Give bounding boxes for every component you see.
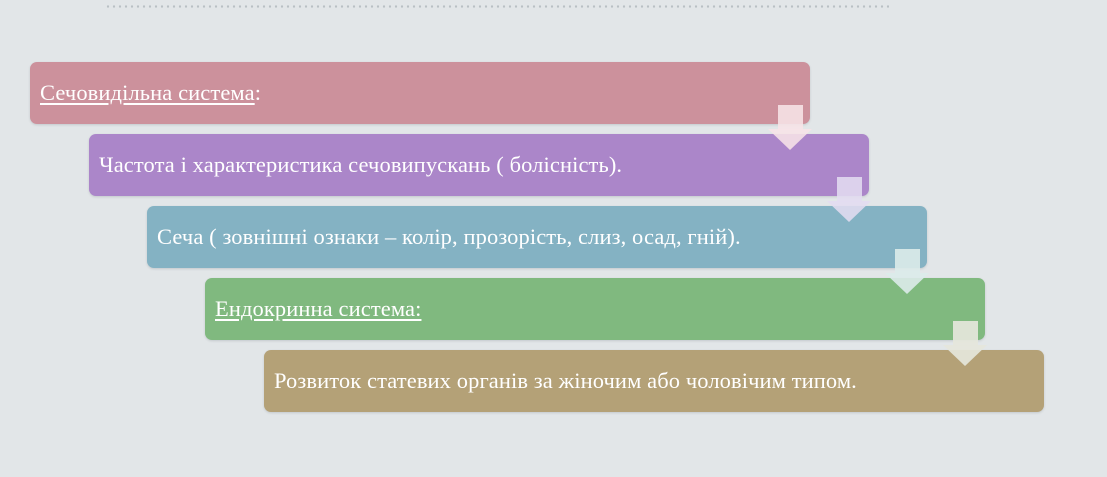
- arrow-stem: [895, 249, 920, 274]
- arrow-down-icon: [885, 249, 929, 294]
- arrow-stem: [837, 177, 862, 202]
- arrow-head: [827, 201, 871, 222]
- step-band-1[interactable]: Сечовидільна система :: [30, 62, 810, 124]
- arrow-down-icon: [768, 105, 812, 150]
- dotted-divider: [105, 5, 889, 8]
- arrow-head: [768, 129, 812, 150]
- arrow-down-icon: [943, 321, 987, 366]
- step-2-trailing-label: Частота і характеристика сечовипускань (…: [99, 153, 622, 177]
- step-4-underlined-label: Ендокринна система:: [215, 297, 421, 321]
- step-band-2[interactable]: Частота і характеристика сечовипускань (…: [89, 134, 869, 196]
- arrow-head: [885, 273, 929, 294]
- arrow-stem: [953, 321, 978, 346]
- step-1-trailing-label: :: [255, 81, 261, 105]
- step-3-trailing-label: Сеча ( зовнішні ознаки – колір, прозоріс…: [157, 225, 741, 249]
- step-5-trailing-label: Розвиток статевих органів за жіночим або…: [274, 369, 857, 393]
- arrow-head: [943, 345, 987, 366]
- step-band-5[interactable]: Розвиток статевих органів за жіночим або…: [264, 350, 1044, 412]
- slide-canvas: Сечовидільна система : Частота і характе…: [0, 0, 1107, 477]
- step-band-3[interactable]: Сеча ( зовнішні ознаки – колір, прозоріс…: [147, 206, 927, 268]
- step-1-underlined-label: Сечовидільна система: [40, 81, 255, 105]
- arrow-stem: [778, 105, 803, 130]
- step-band-4[interactable]: Ендокринна система:: [205, 278, 985, 340]
- arrow-down-icon: [827, 177, 871, 222]
